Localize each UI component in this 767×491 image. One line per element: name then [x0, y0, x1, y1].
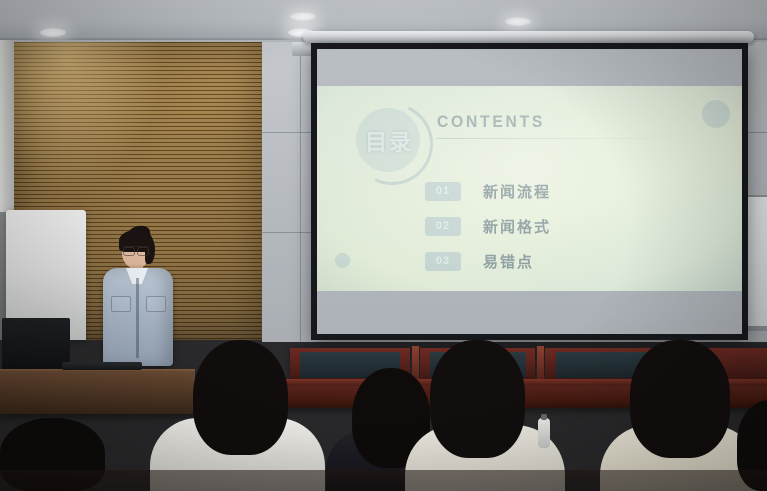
decorative-circle-icon: [702, 100, 730, 128]
contents-badge: 目录: [351, 103, 427, 179]
glasses-icon: [123, 246, 149, 254]
projection-screen-surface: 目录 CONTENTS 01 新闻流程 02 新闻格式 03 易错点: [317, 49, 742, 334]
agenda-item-number: 01: [425, 182, 461, 201]
presentation-slide: 目录 CONTENTS 01 新闻流程 02 新闻格式 03 易错点: [317, 86, 742, 291]
audience-hair: [430, 340, 525, 458]
agenda-item: 03 易错点: [425, 248, 705, 274]
agenda-item: 01 新闻流程: [425, 178, 705, 204]
agenda-item-label: 易错点: [483, 251, 534, 272]
agenda-item-number: 02: [425, 217, 461, 236]
audience-hair: [630, 340, 730, 458]
agenda-item-label: 新闻格式: [483, 216, 551, 237]
foreground-shadow: [0, 470, 767, 491]
agenda-item: 02 新闻格式: [425, 213, 705, 239]
screen-roller-bar: [303, 31, 754, 43]
jacket-pocket: [146, 296, 166, 312]
audience-hair: [193, 340, 288, 455]
podium-keyboard: [62, 362, 142, 370]
decorative-circle-icon: [335, 253, 350, 268]
jacket-button-placket: [136, 278, 139, 358]
agenda-item-number: 03: [425, 252, 461, 271]
slide-agenda-list: 01 新闻流程 02 新闻格式 03 易错点: [425, 178, 705, 283]
podium-monitor: [2, 318, 70, 370]
ceiling-downlight: [40, 28, 66, 37]
title-underline: [437, 138, 687, 139]
wall-panel-seam: [300, 42, 301, 342]
lecture-hall-photo: 目录 CONTENTS 01 新闻流程 02 新闻格式 03 易错点: [0, 0, 767, 491]
slide-title: CONTENTS: [437, 112, 545, 132]
water-bottle: [538, 418, 550, 448]
agenda-item-label: 新闻流程: [483, 181, 551, 202]
ceiling-downlight: [505, 17, 531, 26]
jacket-pocket: [111, 296, 131, 312]
badge-label: 目录: [351, 103, 427, 179]
ceiling-downlight: [290, 12, 316, 21]
podium-desk: [0, 372, 195, 414]
water-bottle-cap: [541, 414, 547, 420]
